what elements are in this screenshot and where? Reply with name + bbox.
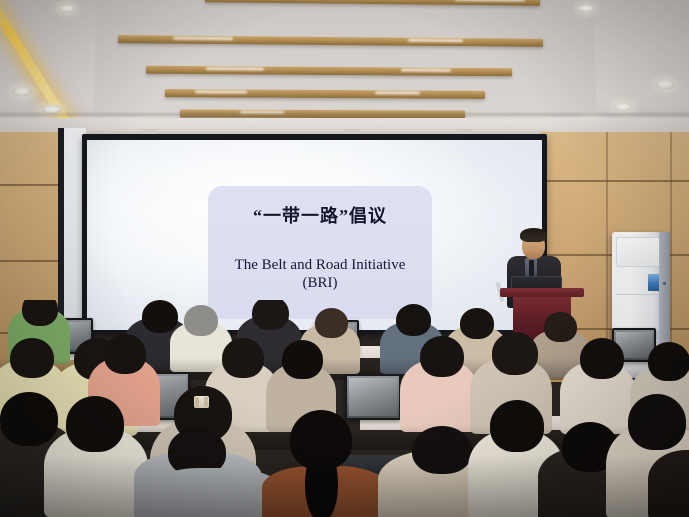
downlight-l1 bbox=[12, 87, 32, 96]
screen-bracket bbox=[344, 129, 360, 134]
student-head bbox=[104, 334, 146, 374]
student-grey-hoodie-torso bbox=[147, 468, 281, 517]
student-head bbox=[22, 300, 58, 326]
student-head bbox=[420, 336, 464, 377]
slide-title-chinese: “一带一路”倡议 bbox=[253, 202, 387, 228]
downlight-r2 bbox=[614, 103, 632, 111]
student-head bbox=[282, 340, 323, 379]
student-head bbox=[184, 305, 218, 336]
student-head bbox=[460, 308, 494, 339]
ac-sensor-icon bbox=[663, 282, 666, 285]
student-head bbox=[490, 400, 544, 452]
student-head bbox=[580, 338, 624, 379]
student-head bbox=[492, 332, 538, 375]
student-head bbox=[315, 308, 348, 338]
student-head bbox=[222, 338, 264, 378]
lecture-hall-photo: “一带一路”倡议 The Belt and Road Initiative (B… bbox=[0, 0, 689, 517]
student-head bbox=[0, 392, 58, 446]
audience bbox=[0, 300, 689, 517]
presenter-tie bbox=[529, 260, 534, 276]
ceiling-slat-4 bbox=[165, 89, 485, 99]
screen-bracket bbox=[457, 129, 473, 134]
slide-title-english-line2: (BRI) bbox=[303, 275, 338, 292]
student-head bbox=[648, 342, 689, 381]
ceiling-step-shadow bbox=[0, 113, 689, 116]
ponytail bbox=[305, 450, 338, 517]
student-head bbox=[142, 300, 178, 333]
classroom-monitor bbox=[345, 374, 401, 420]
wall-seam bbox=[540, 180, 689, 182]
student-head bbox=[66, 396, 124, 452]
student-head bbox=[252, 300, 289, 330]
downlight-r5 bbox=[578, 5, 594, 12]
student-head bbox=[412, 426, 472, 474]
ac-panel-seam bbox=[616, 294, 658, 295]
screen-bracket bbox=[142, 129, 158, 134]
downlight-r1 bbox=[655, 80, 675, 89]
student-head bbox=[544, 312, 577, 342]
student-head bbox=[396, 304, 431, 336]
presenter-hair bbox=[520, 228, 547, 242]
podium-top bbox=[500, 288, 584, 297]
downlight-l4 bbox=[59, 5, 75, 12]
student-head bbox=[628, 394, 686, 450]
hair-claw-clip bbox=[194, 396, 209, 408]
slide-title-english-line1: The Belt and Road Initiative bbox=[235, 256, 406, 275]
ac-grille bbox=[616, 237, 660, 267]
student-head bbox=[10, 338, 54, 378]
